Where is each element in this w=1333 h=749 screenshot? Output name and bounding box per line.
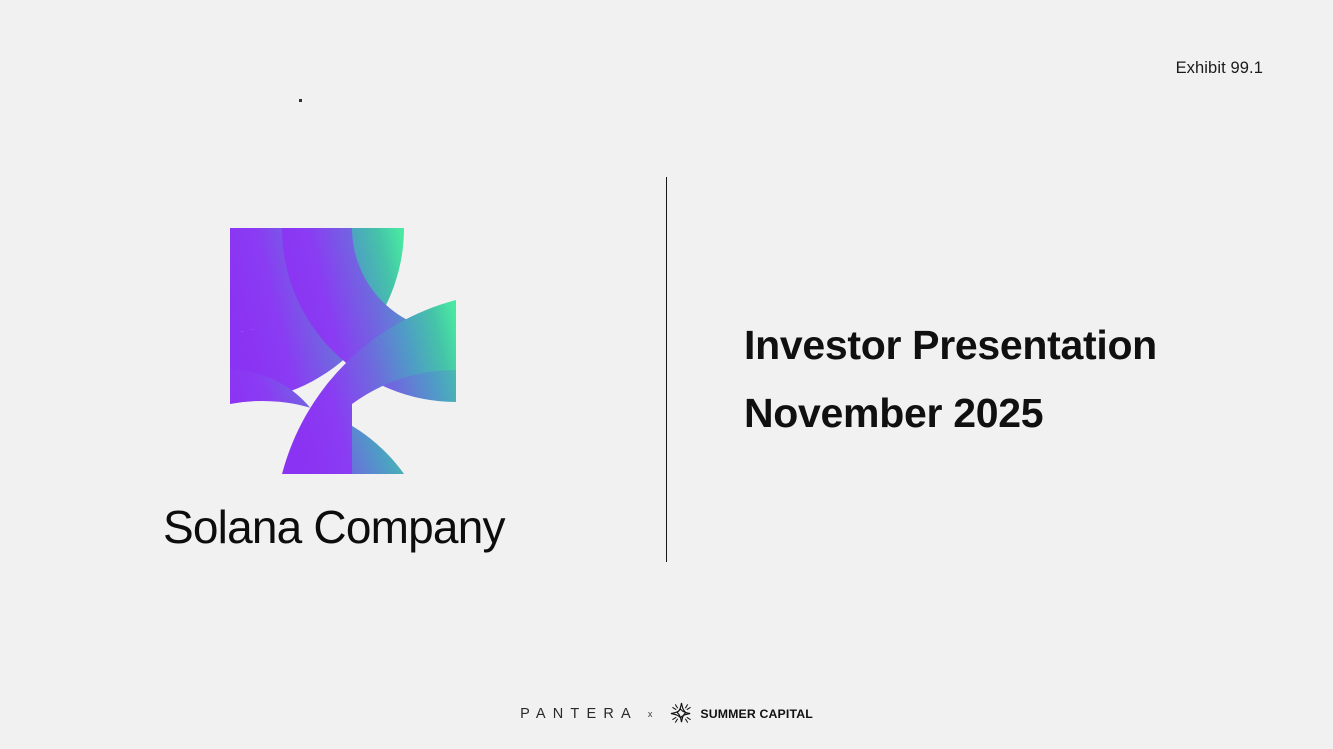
footer-partner-logos: PANTERA x (0, 702, 1333, 725)
summer-capital-logo: SUMMER CAPITAL (670, 702, 813, 725)
exhibit-label: Exhibit 99.1 (1176, 59, 1263, 78)
vertical-divider (666, 177, 667, 562)
presentation-date: November 2025 (744, 379, 1284, 447)
brand-block: Solana Company (163, 228, 583, 474)
solana-company-logo-icon (230, 228, 456, 474)
starburst-icon (670, 702, 693, 725)
presentation-title: Investor Presentation (744, 311, 1284, 379)
presentation-title-slide: Exhibit 99.1 (0, 0, 1333, 749)
pantera-logo: PANTERA (520, 706, 638, 722)
company-name: Solana Company (163, 500, 505, 554)
stray-dot-artifact (299, 99, 302, 102)
pantera-wordmark-text: PANTERA (520, 706, 638, 722)
summer-capital-wordmark: SUMMER CAPITAL (700, 707, 813, 721)
title-block: Investor Presentation November 2025 (744, 311, 1284, 447)
collaboration-separator: x (648, 709, 653, 719)
